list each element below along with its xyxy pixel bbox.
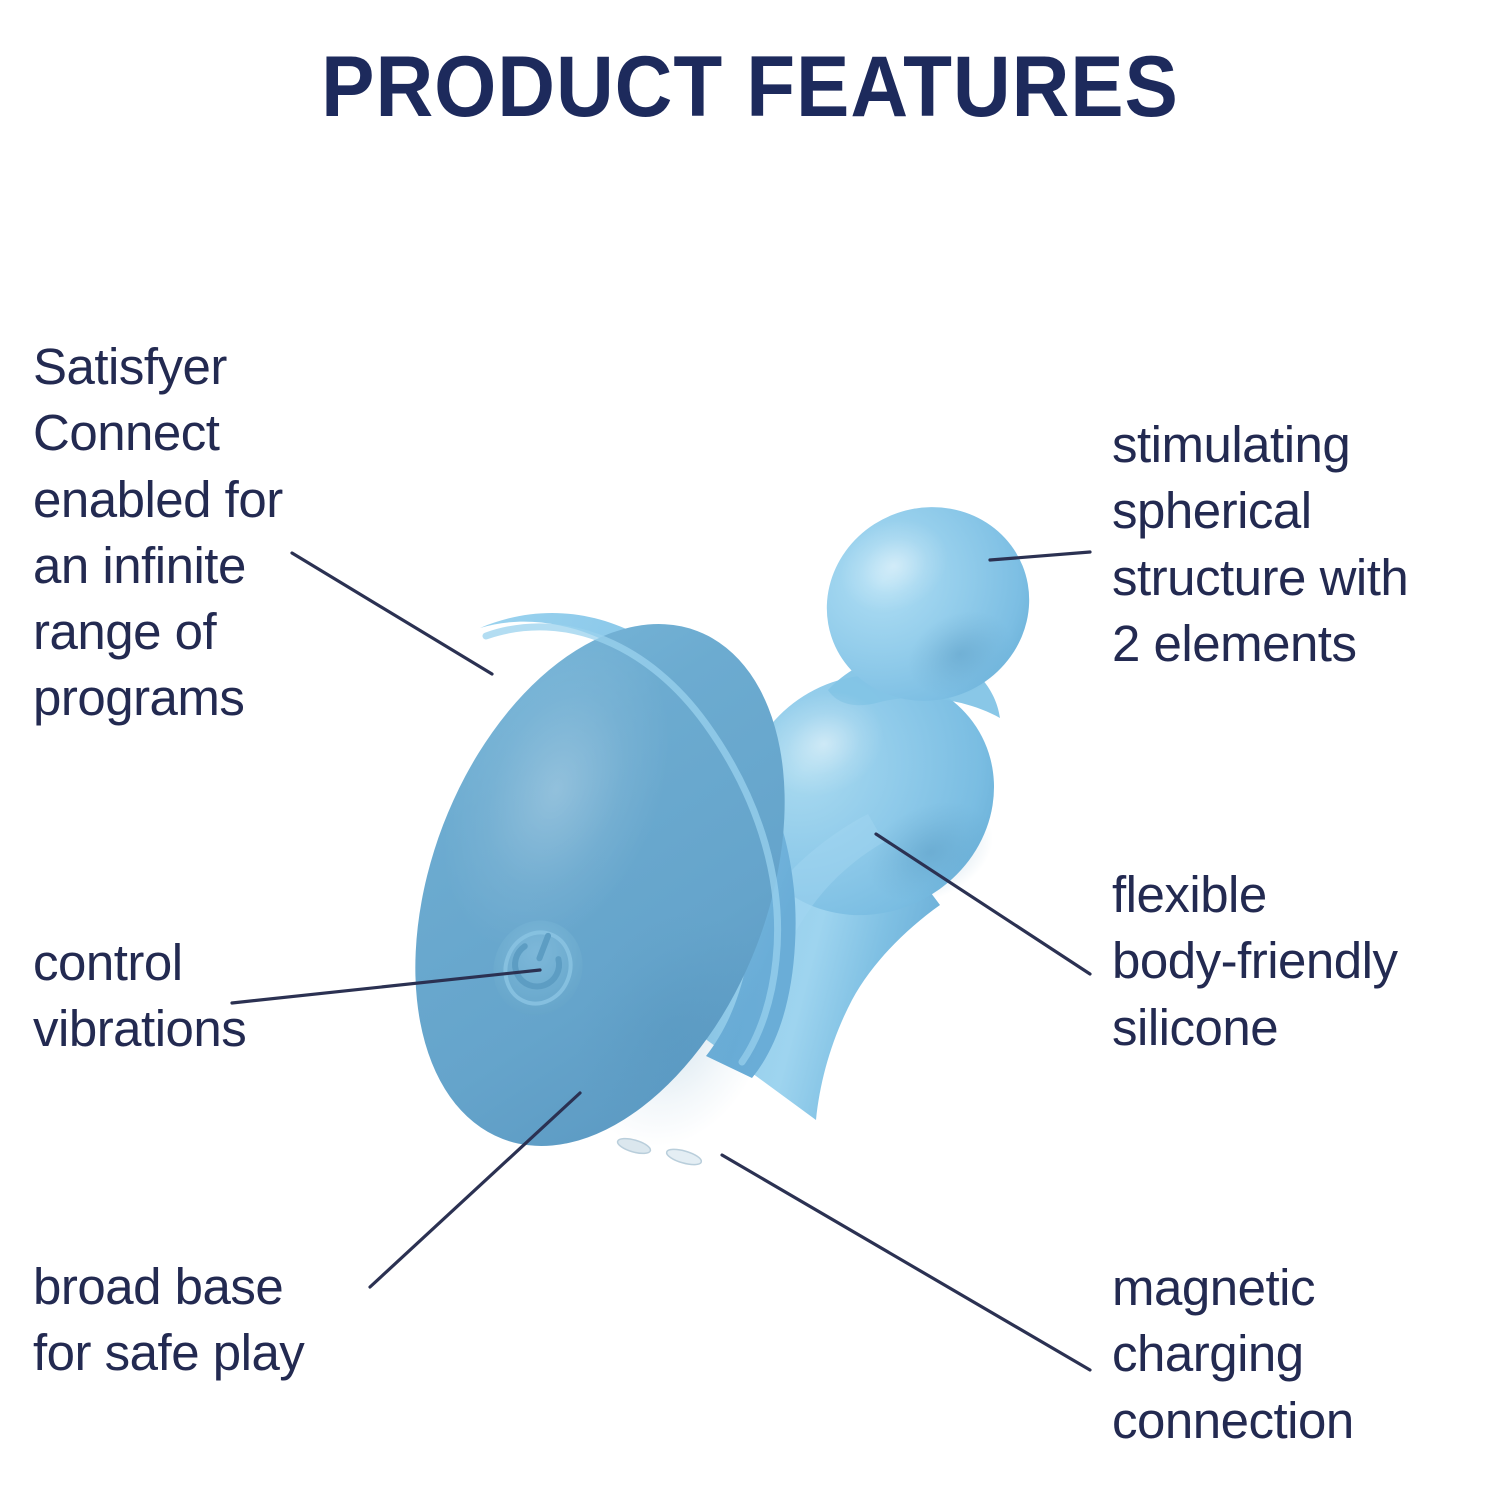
power-icon: [509, 928, 569, 993]
lower-bulb-shadow: [851, 782, 1010, 921]
base-edge: [480, 613, 796, 1078]
callout-spherical-structure: stimulating spherical structure with 2 e…: [1112, 412, 1500, 677]
callout-broad-base: broad base for safe play: [33, 1254, 413, 1387]
base-face: [346, 571, 855, 1199]
page-title: PRODUCT FEATURES: [53, 44, 1448, 130]
callout-control-vibrations: control vibrations: [33, 930, 363, 1063]
upper-bulb: [797, 477, 1058, 731]
leader-line-magnetic: [722, 1155, 1090, 1370]
base-rim-crease: [486, 627, 778, 1062]
bulb-waist: [828, 650, 1000, 718]
neck-highlight: [742, 814, 884, 1012]
product-body: [346, 477, 1059, 1199]
product-features-infographic: PRODUCT FEATURES: [0, 0, 1500, 1500]
upper-bulb-highlight: [825, 502, 964, 629]
base-highlight: [399, 596, 714, 984]
charging-contacts: [616, 1136, 703, 1168]
callout-magnetic-charging: magnetic charging connection: [1112, 1255, 1500, 1454]
leader-line-silicone: [876, 834, 1090, 974]
callout-flexible-silicone: flexible body-friendly silicone: [1112, 862, 1500, 1061]
lower-bulb-highlight: [747, 672, 902, 815]
power-button[interactable]: [480, 907, 597, 1028]
upper-bulb-shadow: [894, 595, 1026, 713]
callout-connect: Satisfyer Connect enabled for an infinit…: [33, 334, 393, 732]
leader-line-spherical: [990, 552, 1090, 560]
lower-bulb: [700, 632, 1035, 958]
product-neck: [696, 793, 940, 1120]
base-shadow: [543, 885, 801, 1175]
